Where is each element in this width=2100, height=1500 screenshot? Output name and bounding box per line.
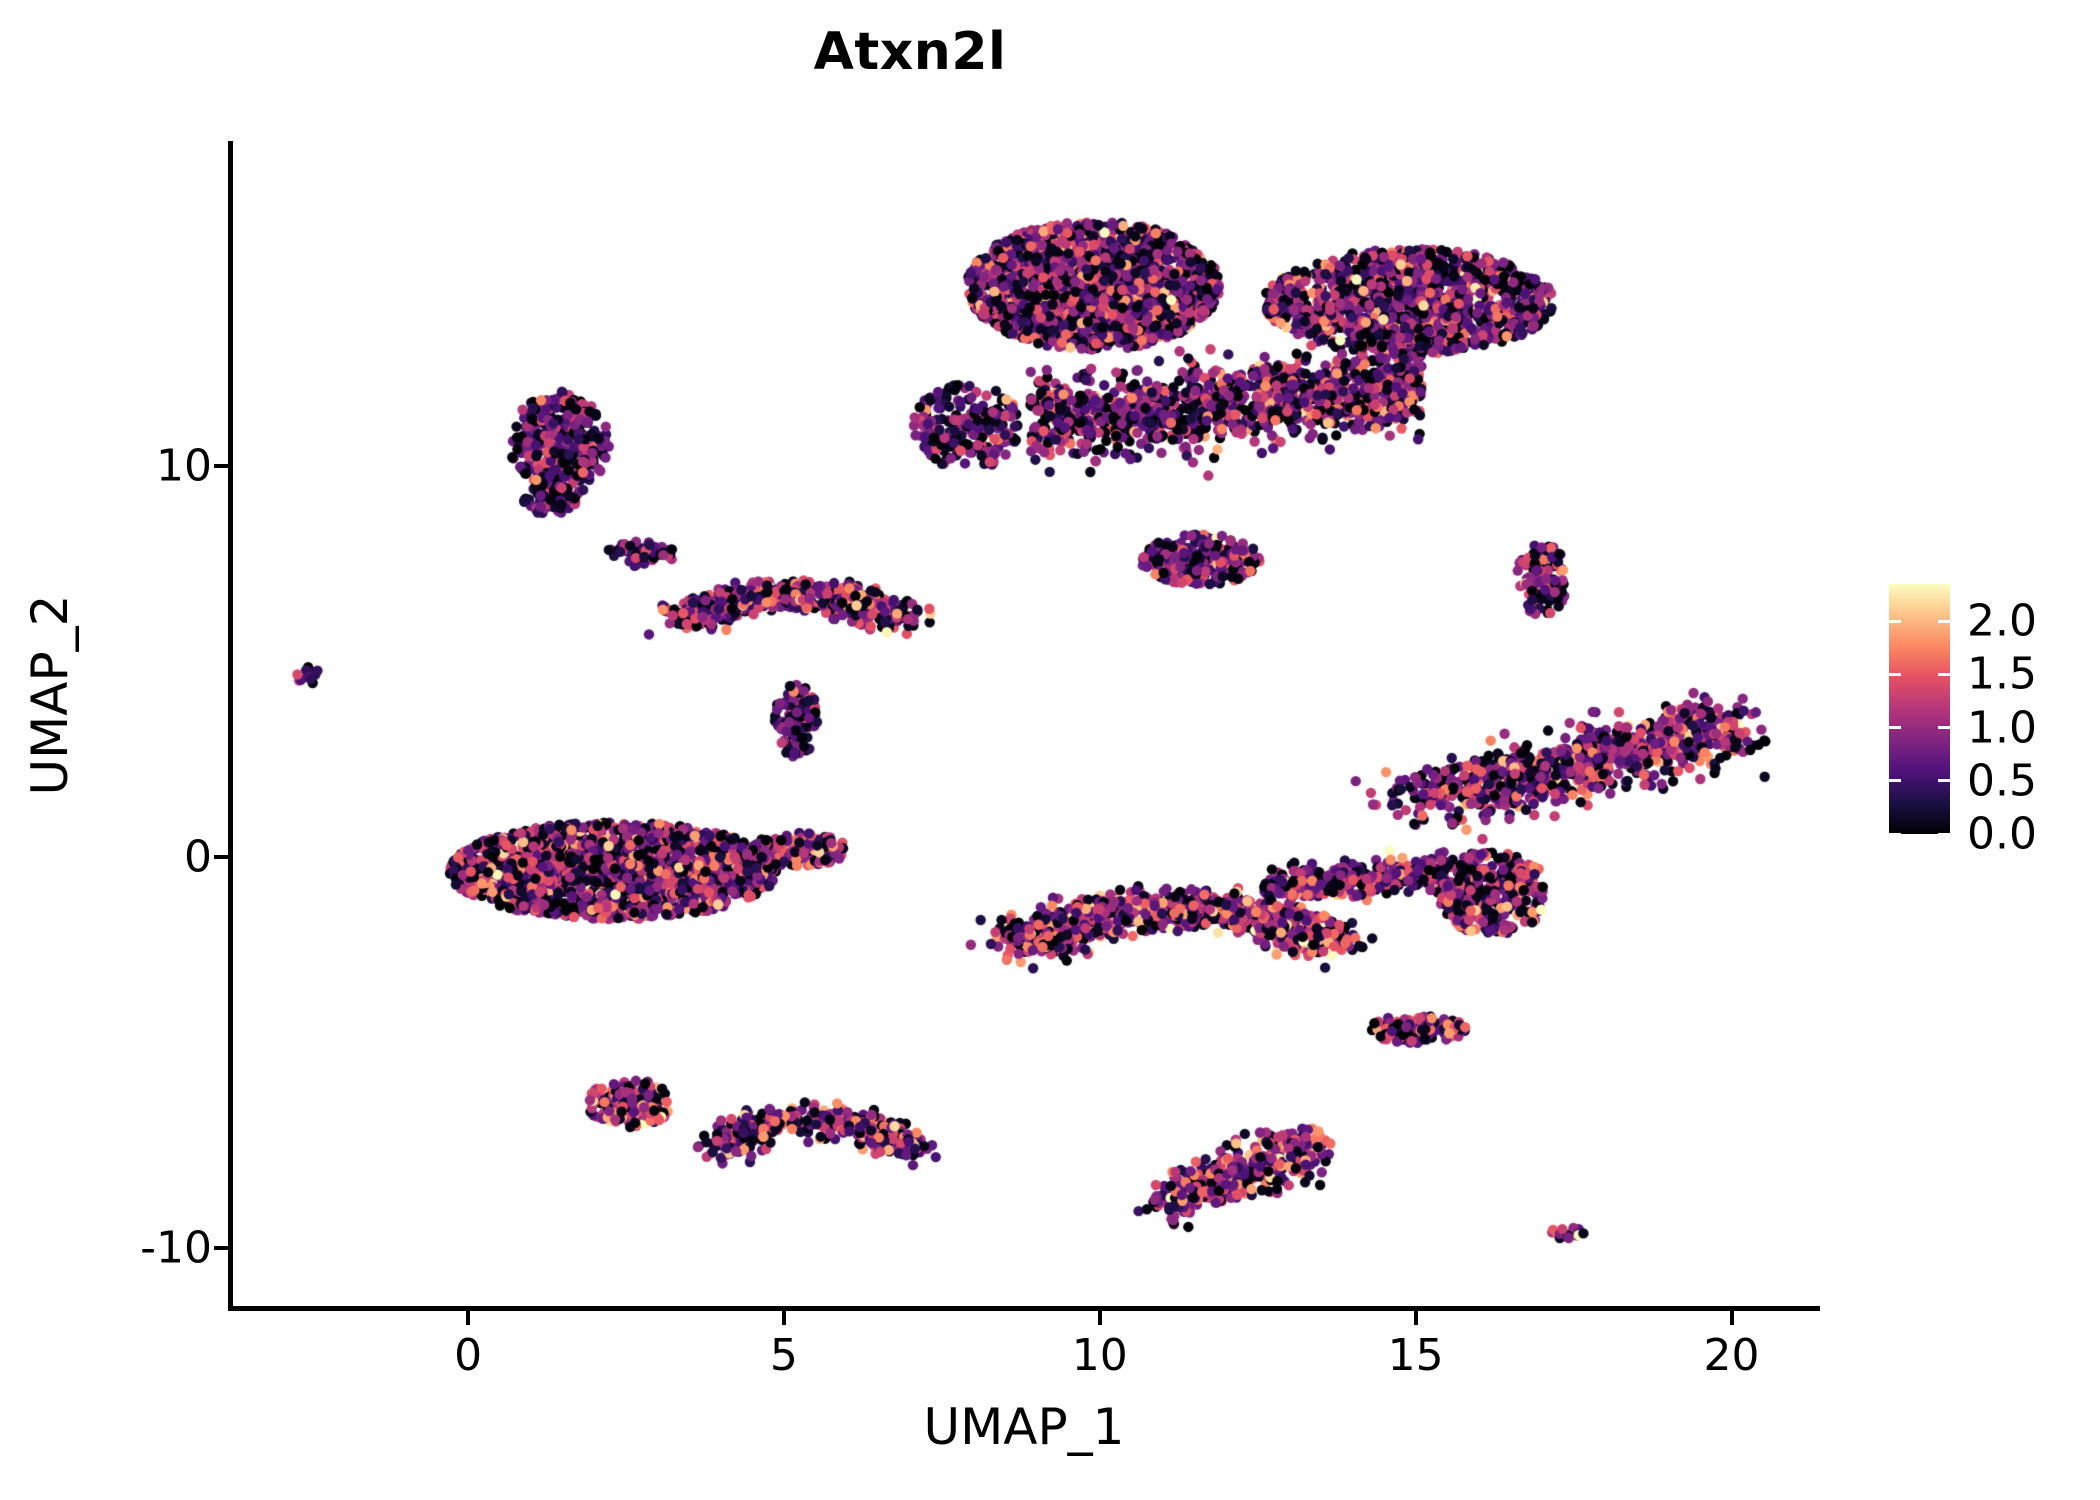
x-tick-mark: [782, 1311, 786, 1325]
colorbar-tick-label: 1.0: [1967, 702, 2037, 753]
y-tick-label: 10: [156, 440, 212, 491]
umap-feature-plot: Atxn2l 05101520 -10010 UMAP_1 UMAP_2 0.0…: [0, 0, 2100, 1500]
colorbar-tick-label: 0.0: [1967, 809, 2037, 860]
x-axis-label: UMAP_1: [228, 1398, 1820, 1456]
y-tick-mark: [214, 464, 228, 468]
x-tick-mark: [1730, 1311, 1734, 1325]
plot-area: [228, 141, 1820, 1311]
y-axis-spine: [228, 141, 233, 1311]
colorbar-tick-mark: [1889, 833, 1901, 836]
colorbar-tick-label: 1.5: [1967, 649, 2037, 700]
colorbar-tick-label: 0.5: [1967, 755, 2037, 806]
y-tick-mark: [214, 1246, 228, 1250]
y-axis-label: UMAP_2: [21, 415, 79, 975]
page-title: Atxn2l: [0, 22, 1820, 82]
colorbar-tick-mark: [1889, 620, 1901, 623]
scatter-points-canvas: [228, 141, 1820, 1311]
x-tick-label: 0: [454, 1330, 482, 1381]
x-tick-label: 15: [1388, 1330, 1444, 1381]
colorbar-tick-label: 2.0: [1967, 596, 2037, 647]
colorbar-tick-mark: [1938, 779, 1950, 782]
colorbar: 0.00.51.01.52.0: [1889, 584, 2069, 834]
colorbar-tick-mark: [1938, 620, 1950, 623]
colorbar-tick-mark: [1889, 779, 1901, 782]
colorbar-tick-mark: [1938, 833, 1950, 836]
x-tick-label: 5: [770, 1330, 798, 1381]
x-tick-label: 10: [1072, 1330, 1128, 1381]
colorbar-tick-mark: [1889, 673, 1901, 676]
y-tick-label: -10: [140, 1223, 212, 1274]
y-tick-label: 0: [184, 832, 212, 883]
colorbar-tick-mark: [1938, 673, 1950, 676]
x-tick-mark: [466, 1311, 470, 1325]
y-tick-mark: [214, 855, 228, 859]
colorbar-tick-mark: [1889, 726, 1901, 729]
x-tick-mark: [1098, 1311, 1102, 1325]
x-tick-label: 20: [1704, 1330, 1760, 1381]
x-tick-mark: [1414, 1311, 1418, 1325]
colorbar-tick-mark: [1938, 726, 1950, 729]
